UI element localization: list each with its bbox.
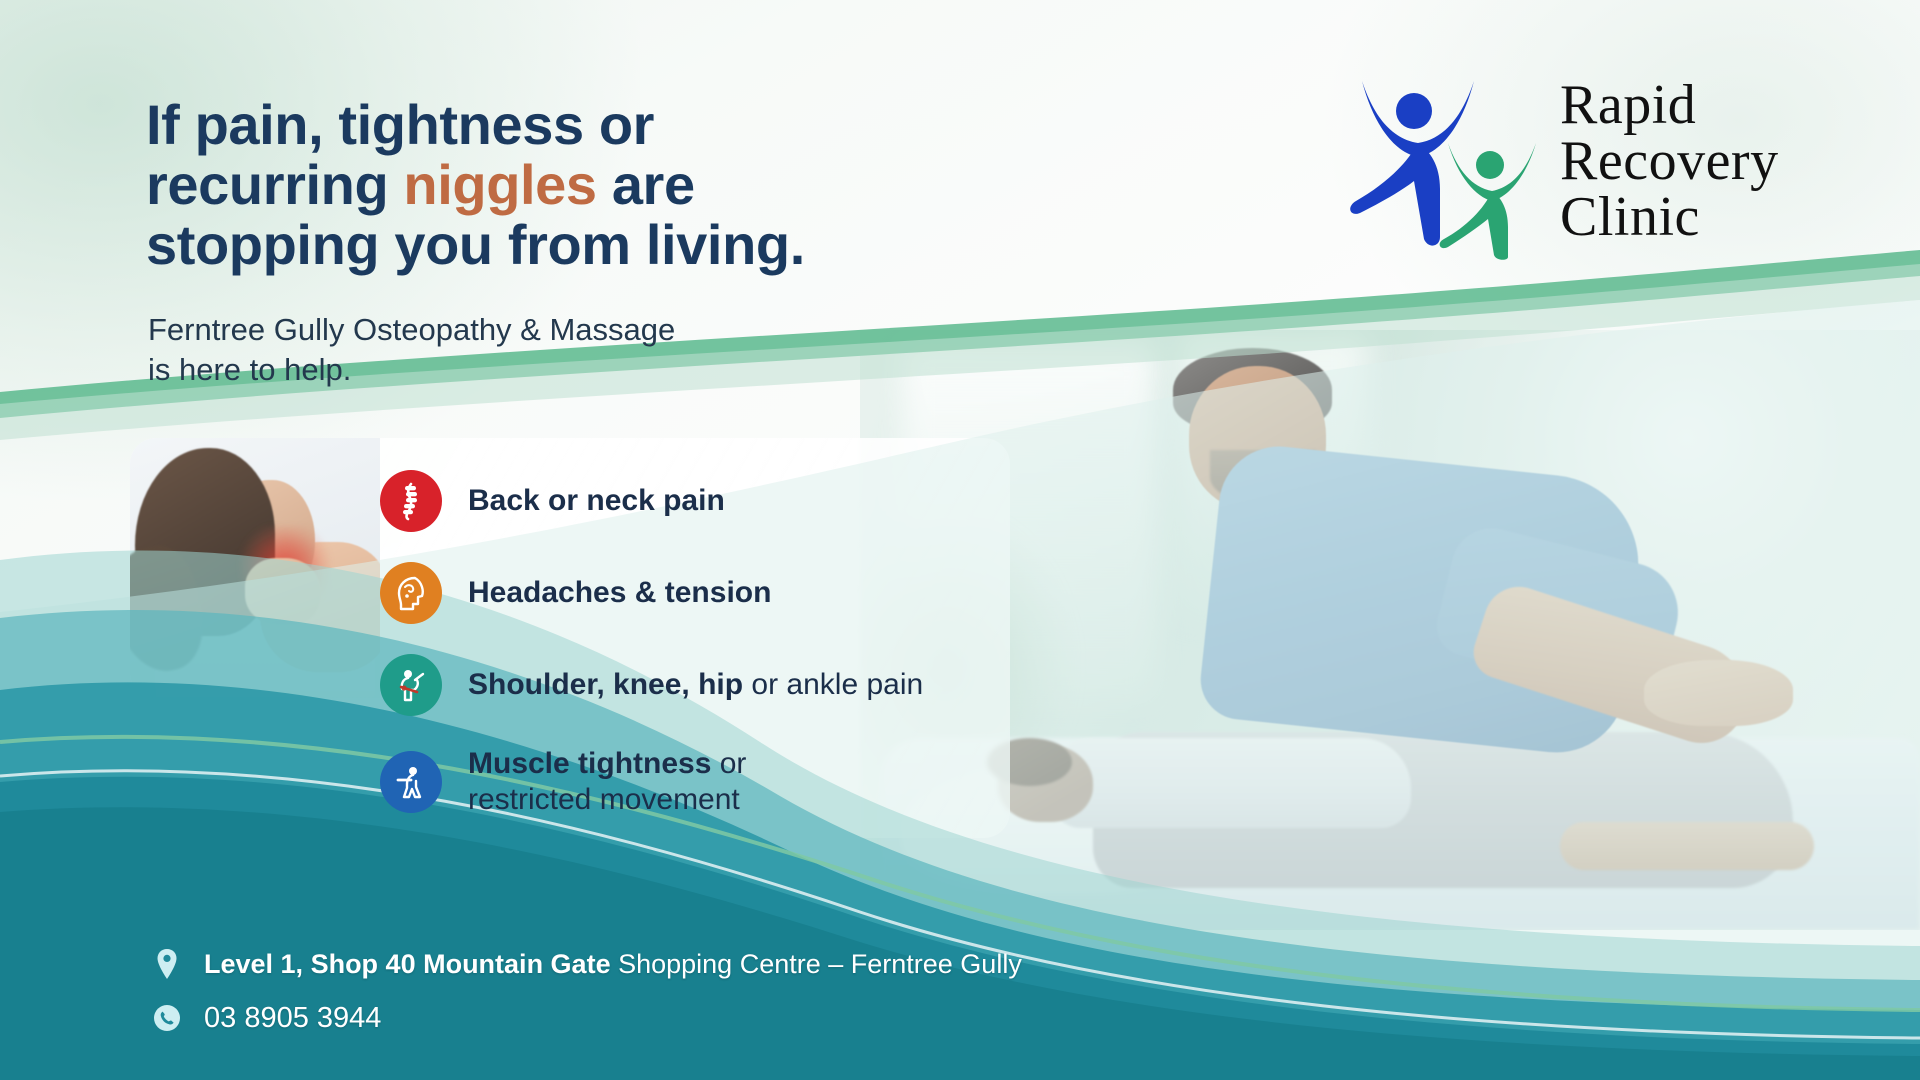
footer-contact-bar: Level 1, Shop 40 Mountain Gate Shopping … [0, 870, 1920, 1080]
footer-address-row: Level 1, Shop 40 Mountain Gate Shopping … [150, 944, 1022, 984]
subheading: Ferntree Gully Osteopathy & Massage is h… [148, 310, 948, 389]
rapid-recovery-figures-icon [1344, 61, 1554, 261]
subheading-line-2: is here to help. [148, 350, 948, 390]
services-list: Back or neck pain Headaches & tension [380, 470, 1020, 818]
phone-icon [150, 998, 184, 1038]
service-item-headaches-tension: Headaches & tension [380, 562, 1020, 624]
advertisement-banner: If pain, tightness or recurring niggles … [0, 0, 1920, 1080]
service-label-muscle-tightness: Muscle tightness or restricted movement [468, 746, 746, 818]
headline-line-3: stopping you from living. [146, 215, 1046, 275]
logo-word-clinic: Clinic [1560, 189, 1779, 245]
service-label-back-neck-pain: Back or neck pain [468, 483, 725, 519]
logo-word-recovery: Recovery [1560, 133, 1779, 189]
service-label-headaches-tension: Headaches & tension [468, 575, 771, 611]
footer-phone-row[interactable]: 03 8905 3944 [150, 998, 1022, 1038]
footer-phone-text: 03 8905 3944 [204, 1002, 381, 1035]
clinic-logo: Rapid Recovery Clinic [1344, 58, 1864, 263]
neck-pain-photo [130, 438, 380, 698]
spine-icon [380, 470, 442, 532]
service-label-joint-pain: Shoulder, knee, hip or ankle pain [468, 667, 923, 703]
footer-address-text: Level 1, Shop 40 Mountain Gate Shopping … [204, 949, 1022, 980]
stretching-icon [380, 751, 442, 813]
service-item-back-neck-pain: Back or neck pain [380, 470, 1020, 532]
logo-word-rapid: Rapid [1560, 77, 1779, 133]
map-pin-icon [150, 944, 184, 984]
headline-line-2-post: are [597, 153, 695, 216]
headline-accent-word: niggles [403, 153, 596, 216]
service-item-joint-pain: Shoulder, knee, hip or ankle pain [380, 654, 1020, 716]
headline: If pain, tightness or recurring niggles … [146, 95, 1046, 275]
headline-line-1: If pain, tightness or [146, 95, 1046, 155]
headline-line-2-pre: recurring [146, 153, 403, 216]
headline-line-2: recurring niggles are [146, 155, 1046, 215]
head-tension-icon [380, 562, 442, 624]
logo-wordmark: Rapid Recovery Clinic [1560, 77, 1779, 245]
service-item-muscle-tightness: Muscle tightness or restricted movement [380, 746, 1020, 818]
joint-pain-icon [380, 654, 442, 716]
subheading-line-1: Ferntree Gully Osteopathy & Massage [148, 310, 948, 350]
